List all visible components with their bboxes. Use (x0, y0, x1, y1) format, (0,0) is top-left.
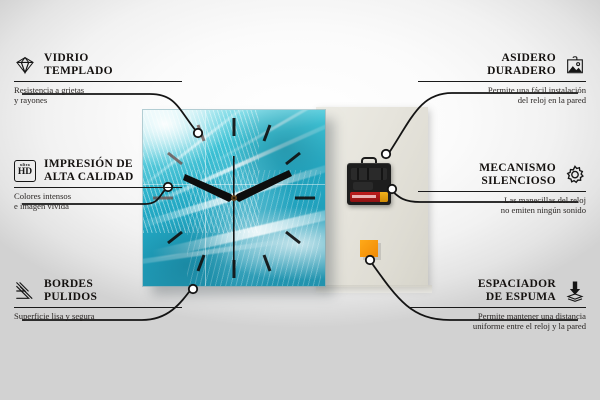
foam-spacer-arrow-icon (564, 280, 586, 302)
feature-glass: VIDRIO TEMPLADO Resistencia a grietas y … (14, 52, 182, 105)
connector-dot-spacer (366, 256, 374, 264)
connector-dot-mechanism (388, 185, 396, 193)
feature-hanger: ASIDERO DURADERO Permite una fácil insta… (418, 52, 586, 105)
divider (408, 307, 586, 308)
divider (14, 187, 182, 188)
feature-edges: BORDES PULIDOS Superficie lisa y segura (14, 278, 182, 321)
divider (14, 81, 182, 82)
diamond-icon (14, 54, 36, 76)
feature-title: BORDES PULIDOS (44, 278, 97, 303)
feature-title: VIDRIO TEMPLADO (44, 52, 113, 77)
feature-spacer: ESPACIADOR DE ESPUMA Permite mantener un… (408, 278, 586, 331)
gear-icon (564, 164, 586, 186)
feature-subtitle: Permite una fácil instalación del reloj … (418, 85, 586, 105)
polished-edges-icon (14, 280, 36, 302)
divider (14, 307, 182, 308)
divider (418, 191, 586, 192)
connector-dot-hanger (382, 150, 390, 158)
feature-title: MECANISMO SILENCIOSO (479, 162, 556, 187)
feature-subtitle: Superficie lisa y segura (14, 311, 182, 321)
feature-subtitle: Resistencia a grietas y rayones (14, 85, 182, 105)
wall-frame-hanger-icon (564, 54, 586, 76)
feature-title: IMPRESIÓN DE ALTA CALIDAD (44, 158, 134, 183)
feature-subtitle: Permite mantener una distancia uniforme … (408, 311, 586, 331)
feature-subtitle: Las manecillas del reloj no emiten ningú… (418, 195, 586, 215)
connector-dot-edges (189, 285, 197, 293)
feature-title: ESPACIADOR DE ESPUMA (478, 278, 556, 303)
divider (418, 81, 586, 82)
connector-dot-glass (194, 129, 202, 137)
ultra-hd-icon: ultra HD (14, 160, 36, 182)
infographic-stage: VIDRIO TEMPLADO Resistencia a grietas y … (0, 0, 600, 400)
feature-subtitle: Colores intensos e imagen vívida (14, 191, 182, 211)
feature-title: ASIDERO DURADERO (487, 52, 556, 77)
feature-mechanism: MECANISMO SILENCIOSO Las manecillas del … (418, 162, 586, 215)
ultra-hd-icon-main-text: HD (18, 168, 32, 178)
feature-print: ultra HD IMPRESIÓN DE ALTA CALIDAD Color… (14, 158, 182, 211)
